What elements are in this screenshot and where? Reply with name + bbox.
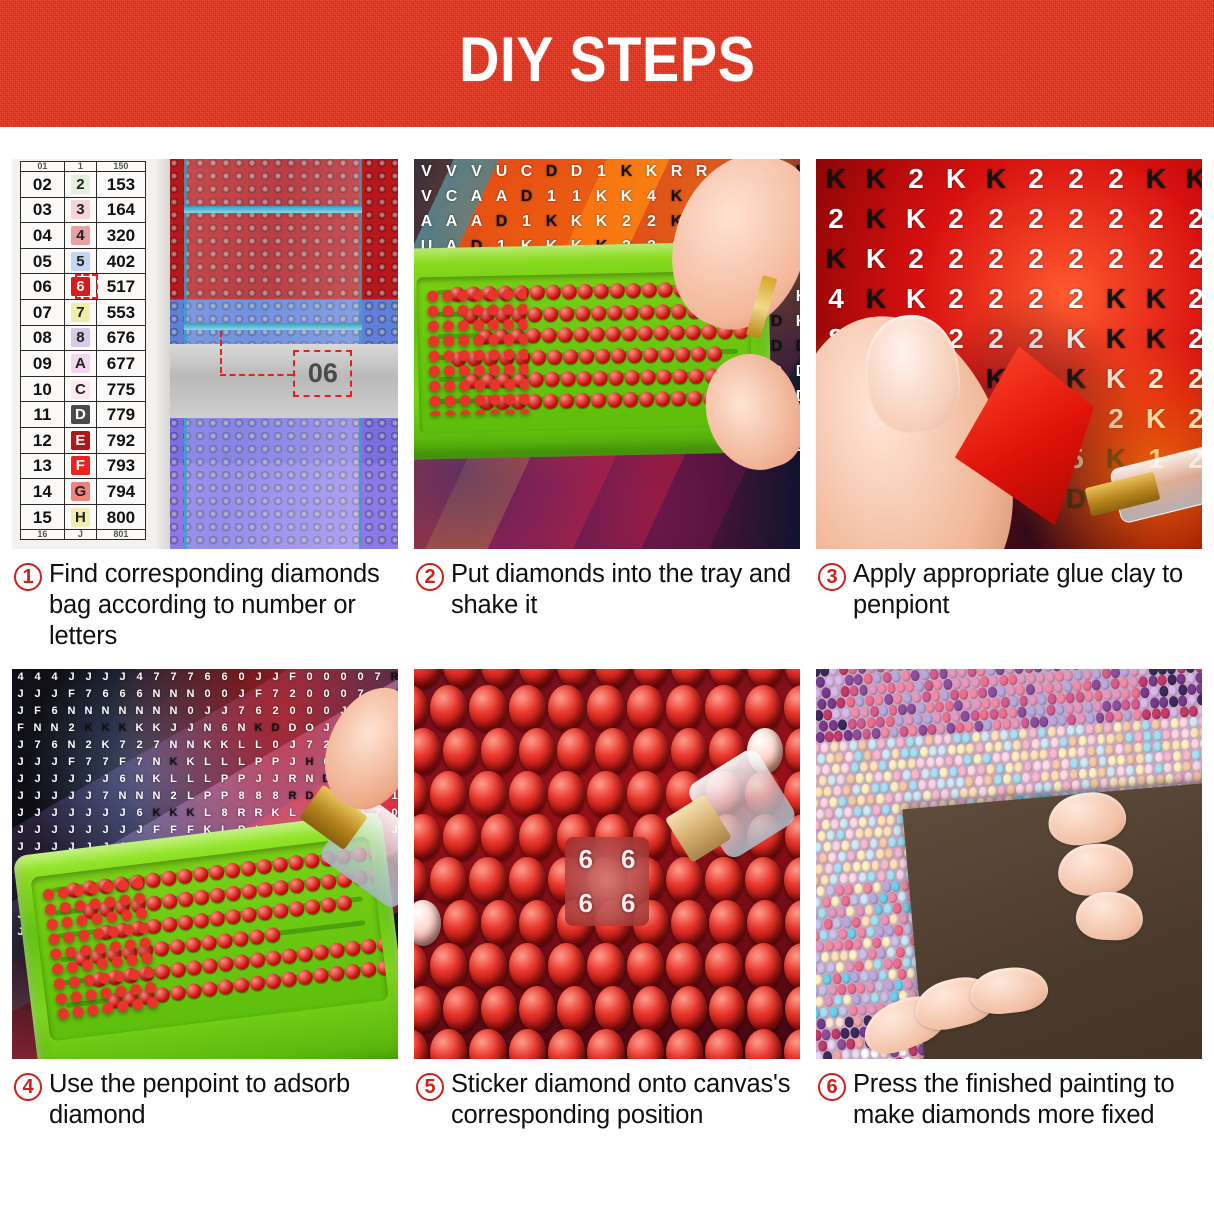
diamond-row xyxy=(414,986,800,1033)
table-row: 088676 xyxy=(21,325,146,351)
chart-index: 07 xyxy=(21,299,65,325)
step-number-badge-1: 1 xyxy=(14,563,42,591)
chart-index: 06 xyxy=(21,274,65,300)
chart-code: 793 xyxy=(97,453,146,479)
diamond-heap xyxy=(42,877,160,1020)
finger xyxy=(1044,788,1129,850)
chart-code: 779 xyxy=(97,402,146,428)
canvas-symbol: 6 xyxy=(621,888,635,919)
diamond-bag: 06 xyxy=(170,159,398,549)
chart-index: 02 xyxy=(21,172,65,198)
step-card-6: 6 Press the finished painting to make di… xyxy=(816,669,1202,1167)
canvas-symbol: 6 xyxy=(621,844,635,875)
step-1-text: Find corresponding diamonds bag accordin… xyxy=(49,559,396,652)
page-title: DIY STEPS xyxy=(459,29,756,92)
table-row: 033164 xyxy=(21,197,146,223)
chart-index: 04 xyxy=(21,223,65,249)
table-row: 066517 xyxy=(21,274,146,300)
callout-line-horizontal xyxy=(220,374,293,376)
chart-code: 677 xyxy=(97,351,146,377)
chart-symbol: F xyxy=(64,453,96,479)
step-5-text: Sticker diamond onto canvas's correspond… xyxy=(451,1069,798,1131)
step-number-badge-2: 2 xyxy=(416,563,444,591)
step-number-badge-4: 4 xyxy=(14,1073,42,1101)
step-card-1: 06 0111500221530331640443200554020665170… xyxy=(12,159,398,657)
chart-code: 517 xyxy=(97,274,146,300)
chart-index: 12 xyxy=(21,427,65,453)
step-2-image: VVVUCDD1KKRRRRRKKKK5574VVCAAD11KK4KK44K2… xyxy=(414,159,800,549)
table-row: 022153 xyxy=(21,172,146,198)
step-card-5: 6666 5 Sticker diamond onto canvas's cor… xyxy=(414,669,800,1167)
step-4-image: 444JJJJ4777660JJF00007R33HHHG33R300N8KJJ… xyxy=(12,669,398,1059)
step-card-3: KK2KK222KKK2K2KK222222212KK22222222114KK… xyxy=(816,159,1202,657)
step-number-badge-3: 3 xyxy=(818,563,846,591)
chart-code: 553 xyxy=(97,299,146,325)
table-row: 10C775 xyxy=(21,376,146,402)
step-2-text: Put diamonds into the tray and shake it xyxy=(451,559,798,621)
chart-code: 402 xyxy=(97,248,146,274)
step-4-text: Use the penpoint to adsorb diamond xyxy=(49,1069,396,1131)
canvas-symbol: 6 xyxy=(579,844,593,875)
chart-symbol: G xyxy=(64,479,96,505)
step-1-image: 06 0111500221530331640443200554020665170… xyxy=(12,159,398,549)
color-chart-table: 0111500221530331640443200554020665170775… xyxy=(20,161,146,540)
step-4-caption: 4 Use the penpoint to adsorb diamond xyxy=(12,1059,398,1167)
empty-canvas-cells: 6666 xyxy=(565,837,650,927)
bag-number-callout: 06 xyxy=(293,350,352,397)
bag-seal-top xyxy=(184,206,362,213)
table-row: 055402 xyxy=(21,248,146,274)
step-6-text: Press the finished painting to make diam… xyxy=(853,1069,1200,1131)
chart-index: 14 xyxy=(21,479,65,505)
step-3-text: Apply appropriate glue clay to penpiont xyxy=(853,559,1200,621)
chart-code: 320 xyxy=(97,223,146,249)
chart-symbol: 4 xyxy=(64,223,96,249)
chart-code: 792 xyxy=(97,427,146,453)
chart-index: 10 xyxy=(21,376,65,402)
table-row: 11D779 xyxy=(21,402,146,428)
chart-symbol: 6 xyxy=(64,274,96,300)
chart-index: 08 xyxy=(21,325,65,351)
step-3-image: KK2KK222KKK2K2KK222222212KK22222222114KK… xyxy=(816,159,1202,549)
page-header: DIY STEPS xyxy=(0,0,1214,127)
hand-right xyxy=(1048,786,1202,958)
step-card-4: 444JJJJ4777660JJF00007R33HHHG33R300N8KJJ… xyxy=(12,669,398,1167)
bag-label-strip xyxy=(170,344,398,418)
table-row: 077553 xyxy=(21,299,146,325)
bag-seal-mid xyxy=(184,323,362,330)
chart-symbol: D xyxy=(64,402,96,428)
canvas-symbol: 6 xyxy=(579,888,593,919)
chart-symbol: H xyxy=(64,504,96,530)
chart-code: 153 xyxy=(97,172,146,198)
table-row: 15H800 xyxy=(21,504,146,530)
step-number-badge-5: 5 xyxy=(416,1073,444,1101)
callout-line-vertical xyxy=(220,331,222,374)
chart-index: 09 xyxy=(21,351,65,377)
chart-index: 11 xyxy=(21,402,65,428)
table-row: 13F793 xyxy=(21,453,146,479)
step-6-image xyxy=(816,669,1202,1059)
steps-grid: 06 0111500221530331640443200554020665170… xyxy=(0,127,1214,1167)
diamond-row xyxy=(414,1029,800,1059)
chart-symbol: C xyxy=(64,376,96,402)
step-1-caption: 1 Find corresponding diamonds bag accord… xyxy=(12,549,398,657)
table-row: 044320 xyxy=(21,223,146,249)
diamond-row xyxy=(414,685,800,732)
chart-code: 164 xyxy=(97,197,146,223)
chart-symbol: 2 xyxy=(64,172,96,198)
table-row: 09A677 xyxy=(21,351,146,377)
canvas-symbol-row: 444JJJJ4777660JJF00007R33HHHG33R300N8K xyxy=(12,669,398,686)
chart-code: 775 xyxy=(97,376,146,402)
chart-code: 794 xyxy=(97,479,146,505)
table-row: 12E792 xyxy=(21,427,146,453)
chart-index: 03 xyxy=(21,197,65,223)
hand-left xyxy=(862,965,1078,1059)
chart-code: 676 xyxy=(97,325,146,351)
step-5-image: 6666 xyxy=(414,669,800,1059)
canvas-symbol-row: JJJF7666NNN00JF7200076HH7443G0G33G3H0GR xyxy=(12,686,398,703)
step-card-2: VVVUCDD1KKRRRRRKKKK5574VVCAAD11KK4KK44K2… xyxy=(414,159,800,657)
chart-symbol: A xyxy=(64,351,96,377)
chart-index: 15 xyxy=(21,504,65,530)
table-row-clipped: 16J801 xyxy=(21,530,146,540)
chart-symbol: 7 xyxy=(64,299,96,325)
chart-symbol: 5 xyxy=(64,248,96,274)
chart-symbol: E xyxy=(64,427,96,453)
chart-index: 05 xyxy=(21,248,65,274)
finger xyxy=(1057,842,1135,899)
diamond-row xyxy=(414,943,800,990)
step-6-caption: 6 Press the finished painting to make di… xyxy=(816,1059,1202,1167)
finger xyxy=(1075,891,1144,941)
table-row-clipped: 011150 xyxy=(21,162,146,172)
chart-index: 13 xyxy=(21,453,65,479)
step-number-badge-6: 6 xyxy=(818,1073,846,1101)
table-row: 14G794 xyxy=(21,479,146,505)
chart-symbol: 3 xyxy=(64,197,96,223)
chart-symbol: 8 xyxy=(64,325,96,351)
diamond-heap xyxy=(426,288,529,415)
color-chart: 0111500221530331640443200554020665170775… xyxy=(12,159,170,549)
chart-code: 800 xyxy=(97,504,146,530)
step-5-caption: 5 Sticker diamond onto canvas's correspo… xyxy=(414,1059,800,1167)
step-3-caption: 3 Apply appropriate glue clay to penpion… xyxy=(816,549,1202,657)
finger xyxy=(968,964,1050,1017)
step-2-caption: 2 Put diamonds into the tray and shake i… xyxy=(414,549,800,657)
